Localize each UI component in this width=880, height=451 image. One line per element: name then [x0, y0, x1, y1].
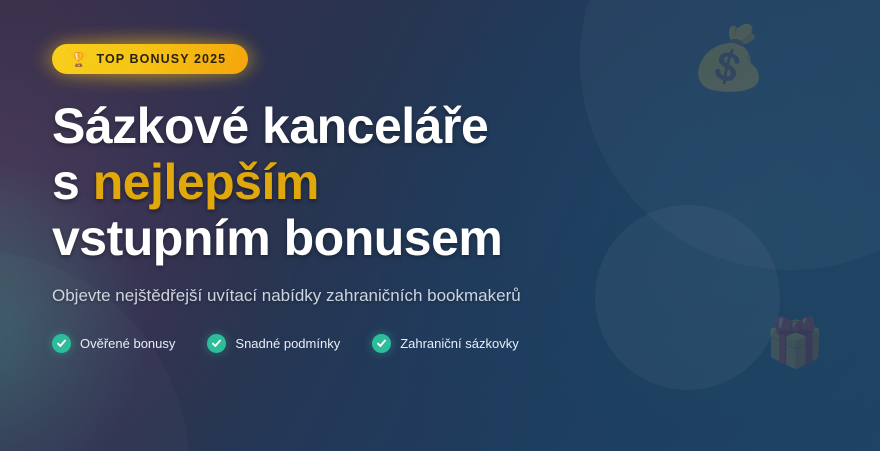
check-icon [372, 334, 391, 353]
headline-accent-word: nejlepším [93, 154, 319, 210]
feature-item: Ověřené bonusy [52, 334, 175, 353]
hero-banner: 💰 🎁 🏆 TOP BONUSY 2025 Sázkové kanceláře … [0, 0, 880, 451]
badge-label: TOP BONUSY 2025 [96, 52, 226, 66]
page-title: Sázkové kanceláře s nejlepším vstupním b… [52, 98, 880, 266]
feature-label: Ověřené bonusy [80, 336, 175, 351]
trophy-icon: 🏆 [70, 52, 87, 66]
feature-label: Zahraniční sázkovky [400, 336, 519, 351]
feature-label: Snadné podmínky [235, 336, 340, 351]
headline-line-2: s nejlepším [52, 154, 880, 210]
feature-list: Ověřené bonusy Snadné podmínky Zahraničn… [52, 334, 880, 353]
headline-line-2-prefix: s [52, 154, 93, 210]
feature-item: Snadné podmínky [207, 334, 340, 353]
top-bonus-badge[interactable]: 🏆 TOP BONUSY 2025 [52, 44, 248, 74]
check-icon [52, 334, 71, 353]
headline-line-3: vstupním bonusem [52, 210, 880, 266]
headline-line-1: Sázkové kanceláře [52, 98, 880, 154]
hero-content: 🏆 TOP BONUSY 2025 Sázkové kanceláře s ne… [0, 0, 880, 353]
feature-item: Zahraniční sázkovky [372, 334, 519, 353]
check-icon [207, 334, 226, 353]
hero-subtitle: Objevte nejštědřejší uvítací nabídky zah… [52, 284, 532, 308]
